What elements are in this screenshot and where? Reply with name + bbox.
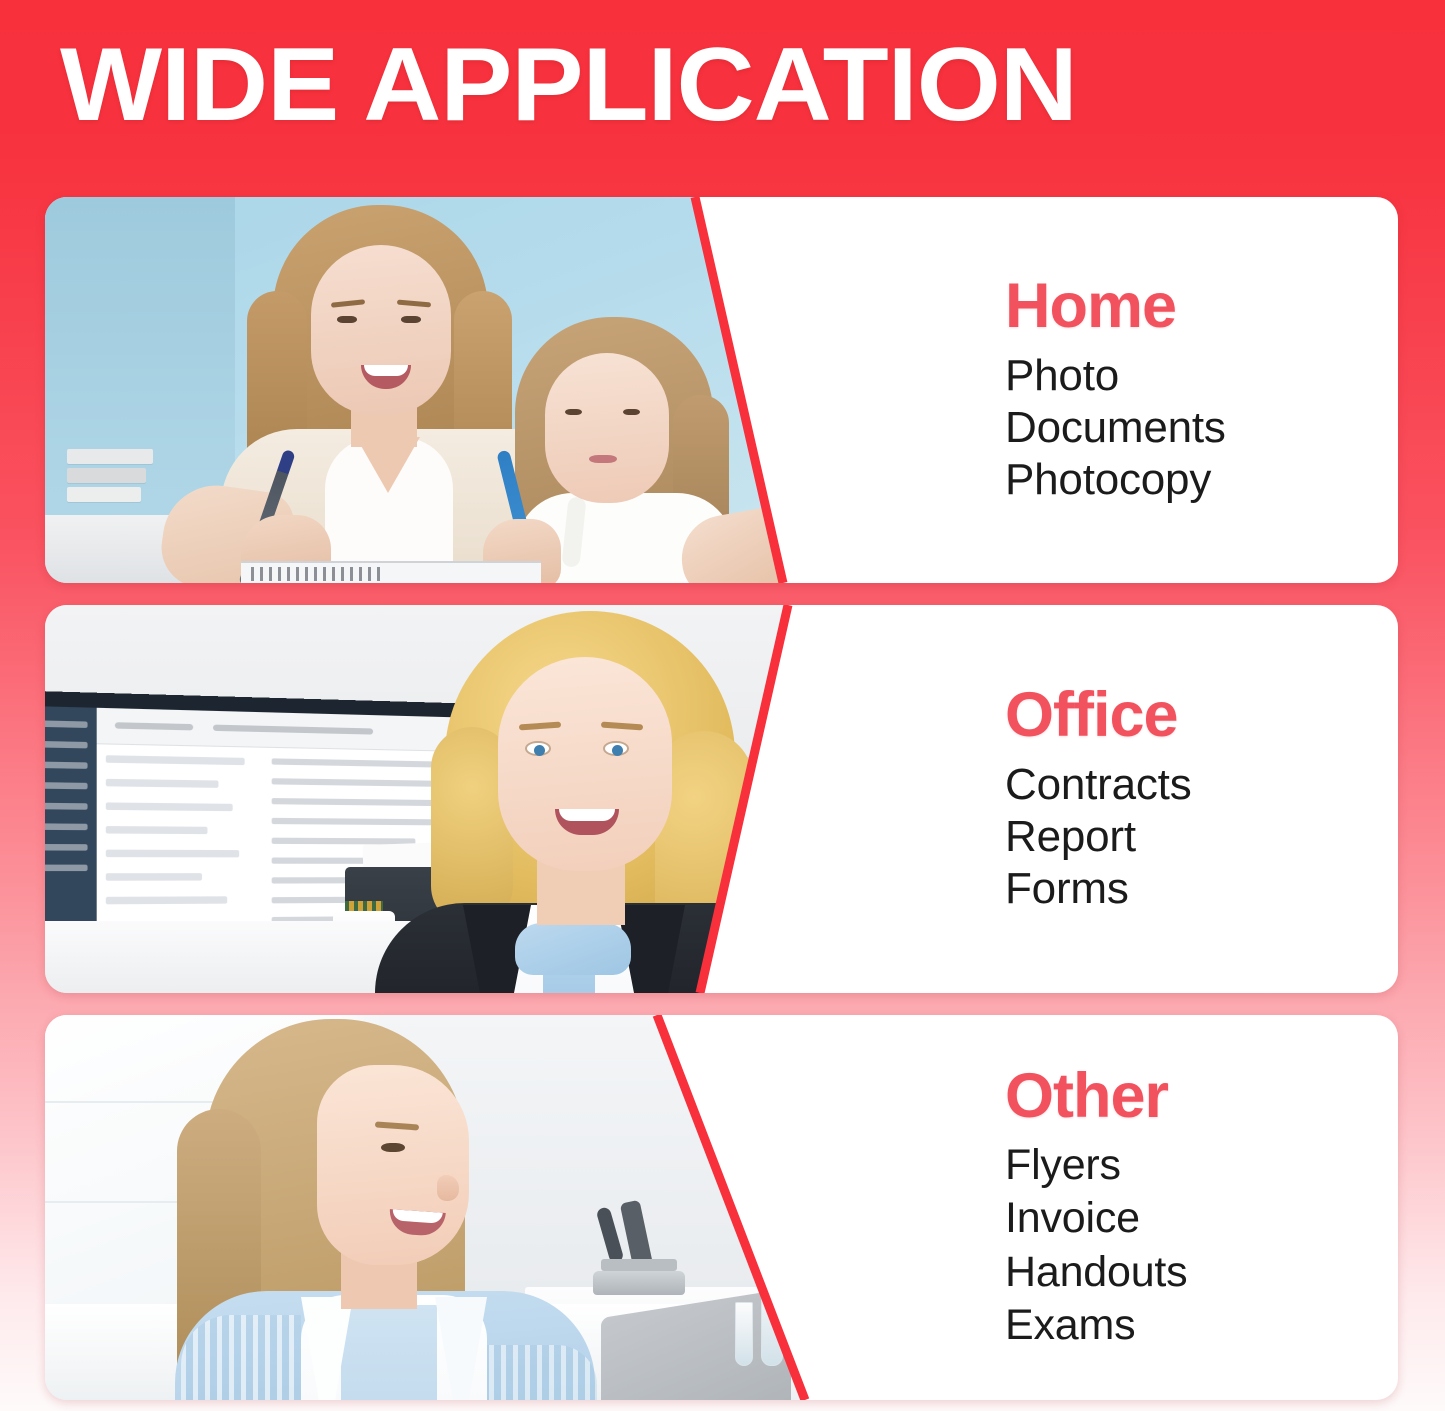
list-item: Handouts xyxy=(1005,1246,1398,1299)
books-stack-icon xyxy=(67,449,153,521)
card-item-list: Flyers Invoice Handouts Exams xyxy=(1005,1139,1398,1352)
application-card-office: Office Contracts Report Forms xyxy=(45,605,1398,993)
microscope-icon xyxy=(587,1201,691,1297)
list-item: Photocopy xyxy=(1005,454,1398,506)
list-item: Invoice xyxy=(1005,1192,1398,1245)
card-heading: Other xyxy=(1005,1063,1398,1129)
photo-office-businesswoman xyxy=(45,605,805,993)
list-item: Flyers xyxy=(1005,1139,1398,1192)
list-item: Forms xyxy=(1005,863,1398,915)
title-bar: WIDE APPLICATION xyxy=(0,0,1445,170)
card-photo-home xyxy=(45,197,805,583)
card-text-other: Other Flyers Invoice Handouts Exams xyxy=(805,1015,1398,1400)
list-item: Exams xyxy=(1005,1299,1398,1352)
page-title: WIDE APPLICATION xyxy=(60,33,1077,137)
card-photo-office xyxy=(45,605,805,993)
list-item: Documents xyxy=(1005,402,1398,454)
application-card-home: Home Photo Documents Photocopy xyxy=(45,197,1398,583)
list-item: Photo xyxy=(1005,350,1398,402)
photo-lab-woman xyxy=(45,1015,805,1400)
application-card-other: Other Flyers Invoice Handouts Exams xyxy=(45,1015,1398,1400)
card-text-home: Home Photo Documents Photocopy xyxy=(805,197,1398,583)
card-photo-other xyxy=(45,1015,805,1400)
card-text-office: Office Contracts Report Forms xyxy=(805,605,1398,993)
card-heading: Home xyxy=(1005,273,1398,339)
card-item-list: Photo Documents Photocopy xyxy=(1005,350,1398,507)
card-heading: Office xyxy=(1005,682,1398,748)
list-item: Contracts xyxy=(1005,759,1398,811)
card-item-list: Contracts Report Forms xyxy=(1005,759,1398,916)
photo-home-tutoring xyxy=(45,197,805,583)
poster-root: WIDE APPLICATION xyxy=(0,0,1445,1411)
list-item: Report xyxy=(1005,811,1398,863)
